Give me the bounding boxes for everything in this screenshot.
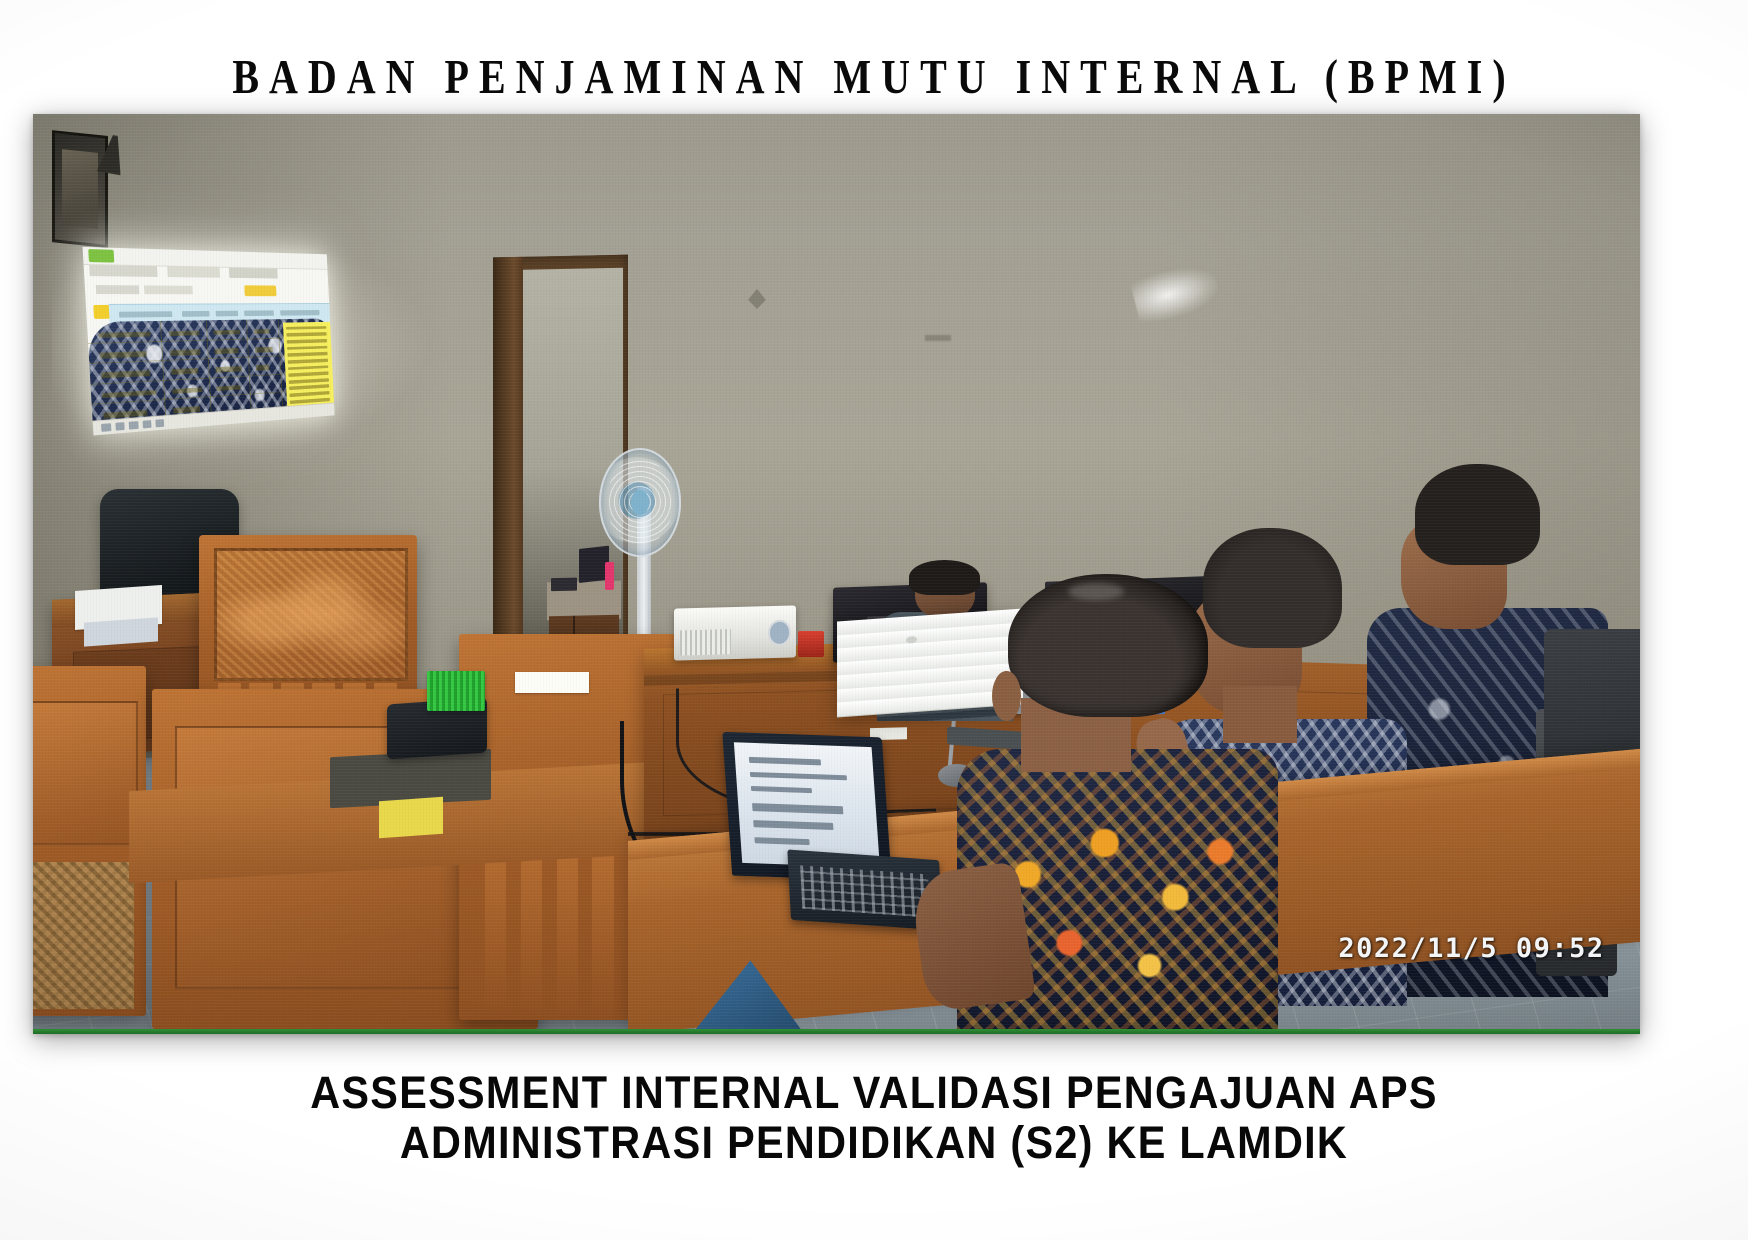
wall-picture-inner bbox=[62, 149, 98, 229]
green-basket bbox=[427, 671, 485, 711]
photo-timestamp: 2022/11/5 09:52 bbox=[1338, 933, 1604, 964]
door-jamb bbox=[493, 256, 523, 698]
participant-ear bbox=[992, 671, 1021, 722]
pink-object bbox=[604, 561, 613, 589]
chair-panel bbox=[33, 701, 138, 845]
photo-caption: ASSESSMENT INTERNAL VALIDASI PENGAJUAN A… bbox=[70, 1068, 1678, 1169]
participant-laptop bbox=[727, 735, 933, 928]
red-cup bbox=[798, 631, 824, 657]
caption-line-1: ASSESSMENT INTERNAL VALIDASI PENGAJUAN A… bbox=[70, 1068, 1678, 1118]
chair-carving bbox=[214, 548, 408, 681]
wall-mark bbox=[925, 335, 951, 341]
participant-hair bbox=[1008, 574, 1207, 717]
standing-fan-icon bbox=[599, 448, 682, 557]
row-marker bbox=[93, 306, 111, 319]
laptop-screen bbox=[734, 742, 880, 868]
inner-room-keyboard bbox=[550, 577, 576, 590]
page-subtitle-row bbox=[96, 285, 231, 295]
meeting-photo: 2022/11/5 09:52 bbox=[33, 114, 1640, 1034]
action-button bbox=[244, 285, 276, 296]
chair-name-card bbox=[515, 672, 589, 693]
app-logo-icon bbox=[88, 249, 114, 263]
projector-lens-icon bbox=[768, 620, 792, 646]
caption-line-2: ADMINISTRASI PENDIDIKAN (S2) KE LAMDIK bbox=[70, 1118, 1678, 1168]
participant-arm bbox=[909, 861, 1036, 1013]
projector bbox=[674, 606, 796, 661]
chair-weave bbox=[33, 862, 134, 1009]
photo-green-strip bbox=[33, 1029, 1640, 1034]
wall-picture bbox=[52, 130, 108, 248]
yellow-paper bbox=[379, 797, 443, 838]
projection-screen bbox=[82, 247, 334, 435]
participant-foreground bbox=[957, 574, 1278, 1034]
page-title: BADAN PENJAMINAN MUTU INTERNAL (BPMI) bbox=[0, 48, 1748, 105]
participant-hair bbox=[1415, 464, 1540, 565]
photo-frame: 2022/11/5 09:52 bbox=[33, 114, 1640, 1034]
laptop-keys bbox=[800, 865, 930, 917]
projector-vent bbox=[680, 629, 731, 656]
participant-hair-highlight bbox=[1068, 583, 1124, 600]
inner-room-laptop bbox=[578, 545, 608, 583]
